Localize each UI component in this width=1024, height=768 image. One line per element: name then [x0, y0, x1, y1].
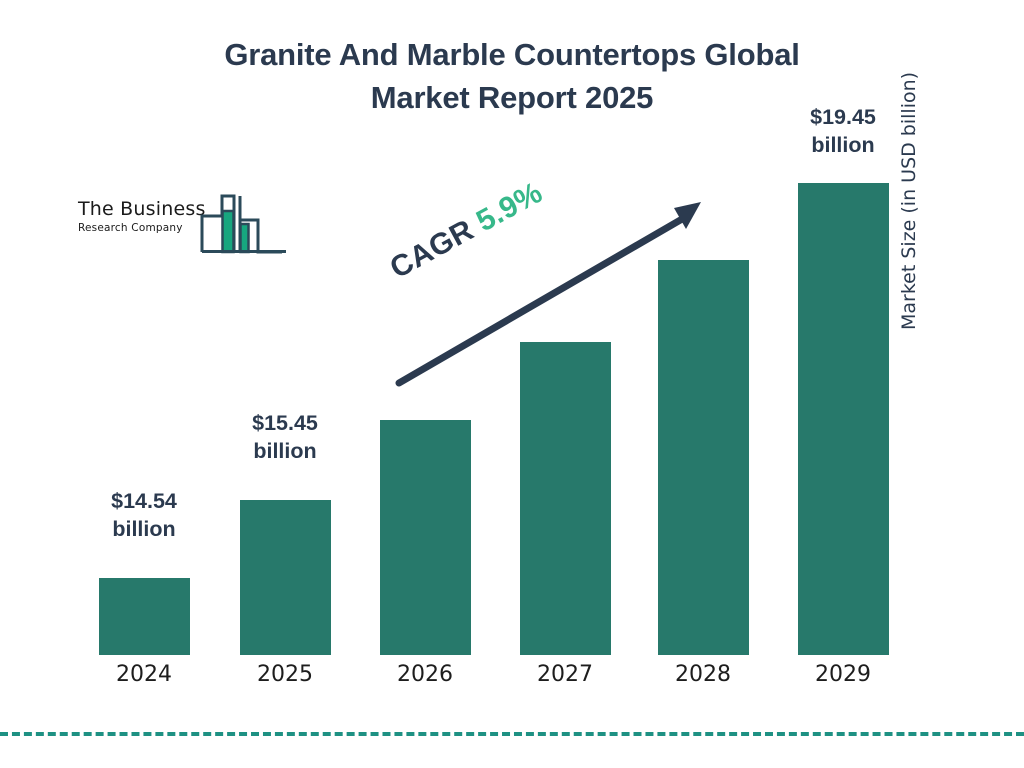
chart-figure: Granite And Marble Countertops Global Ma…: [0, 0, 1024, 768]
bar-2026: [380, 420, 471, 655]
x-tick-2024: 2024: [74, 662, 214, 687]
bar-2025: [240, 500, 331, 655]
bar-label-2024-unit: billion: [74, 515, 214, 543]
x-tick-2029: 2029: [773, 662, 913, 687]
y-axis-title: Market Size (in USD billion): [898, 10, 920, 330]
bar-2029: [798, 183, 889, 655]
bar-2028: [658, 260, 749, 655]
plot-area: $14.54 billion 2024 $15.45 billion 2025 …: [0, 0, 1024, 768]
bar-label-2029-unit: billion: [773, 131, 913, 159]
bar-label-2025: $15.45 billion: [215, 409, 355, 466]
x-tick-2025: 2025: [215, 662, 355, 687]
x-tick-2028: 2028: [633, 662, 773, 687]
bar-label-2025-unit: billion: [215, 437, 355, 465]
bar-label-2025-value: $15.45: [215, 409, 355, 437]
bar-label-2024-value: $14.54: [74, 487, 214, 515]
x-tick-2026: 2026: [355, 662, 495, 687]
x-tick-2027: 2027: [495, 662, 635, 687]
bar-label-2024: $14.54 billion: [74, 487, 214, 544]
bar-2027: [520, 342, 611, 655]
bar-label-2029: $19.45 billion: [773, 103, 913, 160]
bar-label-2029-value: $19.45: [773, 103, 913, 131]
footer-divider: [0, 732, 1024, 736]
bar-2024: [99, 578, 190, 655]
